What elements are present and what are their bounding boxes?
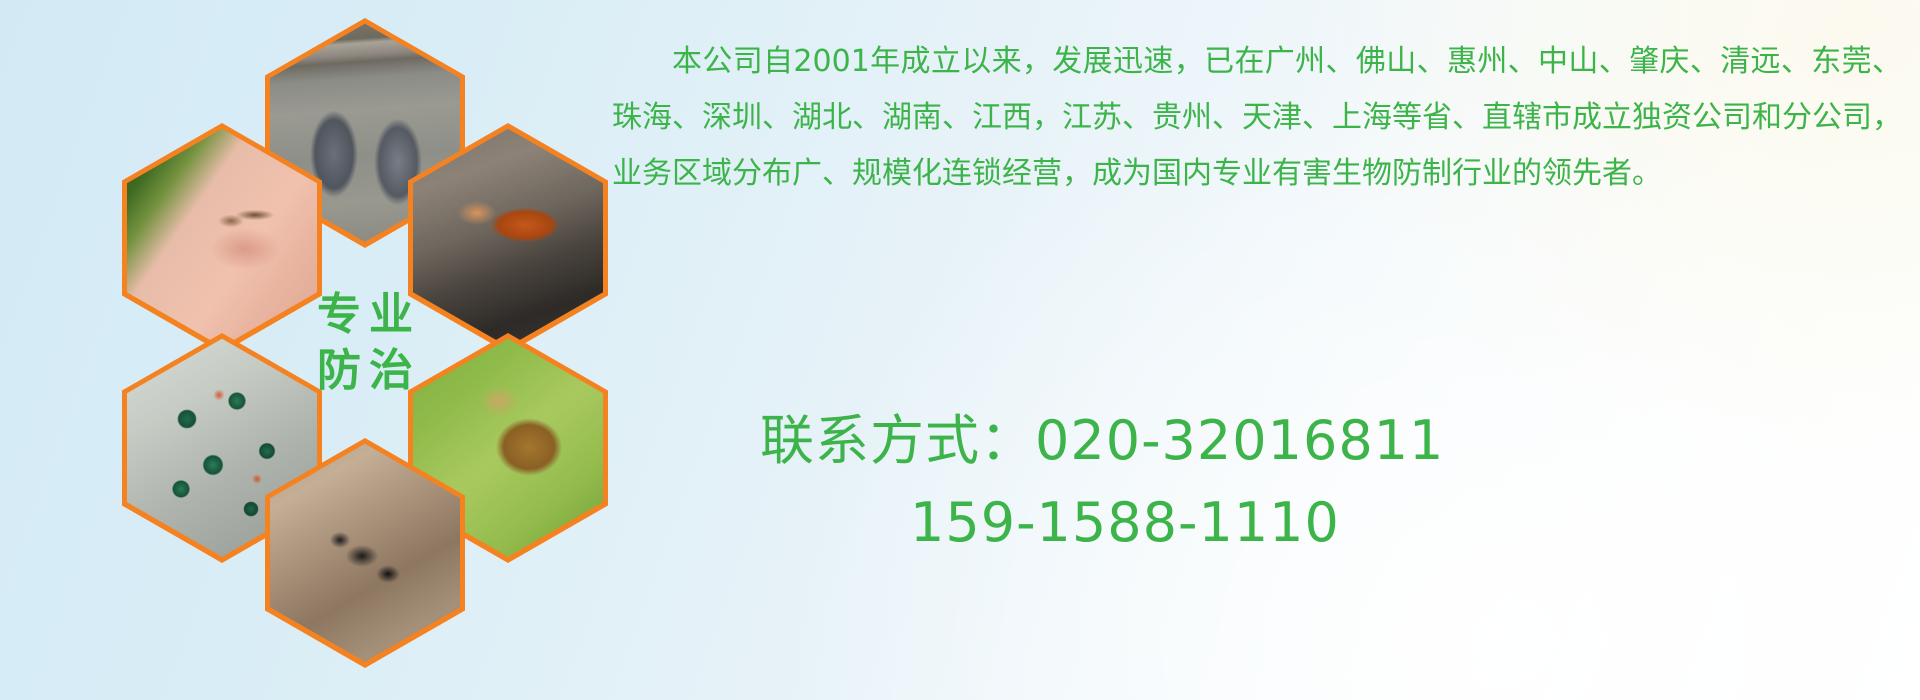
ant-photo <box>270 444 460 662</box>
intro-paragraph: 本公司自2001年成立以来，发展迅速，已在广州、佛山、惠州、中山、肇庆、清远、东… <box>612 34 1902 202</box>
contact-mobile-line: 159-1588-1110 <box>760 482 1444 564</box>
hexagon-photo-cluster: 专业 防治 <box>95 0 595 570</box>
hex-ant-clip <box>270 444 460 662</box>
badge-line-2: 防治 <box>309 348 421 394</box>
badge-line-1: 专业 <box>309 292 421 338</box>
contact-block: 联系方式：020-32016811 159-1588-1110 <box>760 400 1444 564</box>
company-intro: 本公司自2001年成立以来，发展迅速，已在广州、佛山、惠州、中山、肇庆、清远、东… <box>612 34 1902 202</box>
pest-control-banner: 专业 防治 本公司自2001年成立以来，发展迅速，已在广州、佛山、惠州、中山、肇… <box>0 0 1920 700</box>
contact-phone-line: 联系方式：020-32016811 <box>760 400 1444 482</box>
